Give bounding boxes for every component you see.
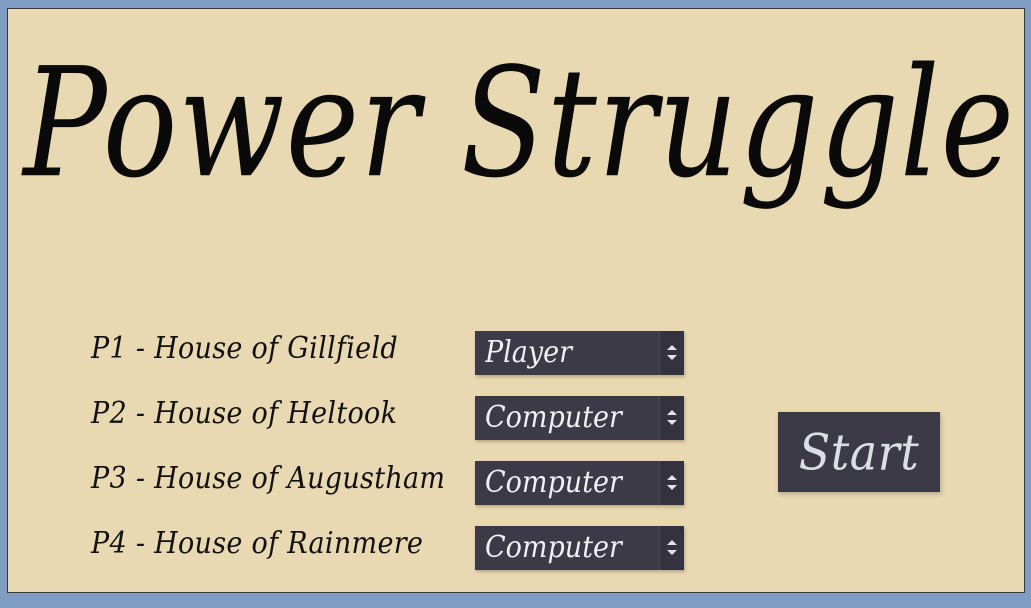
spinner-up-arrow-icon[interactable] xyxy=(667,540,677,545)
spinner-down-arrow-icon[interactable] xyxy=(667,485,677,490)
player-row-1: P1 - House of Gillfield Player xyxy=(8,321,1024,386)
player-type-spinner-3[interactable] xyxy=(659,461,684,505)
start-button-label: Start xyxy=(778,409,940,495)
spinner-up-arrow-icon[interactable] xyxy=(667,475,677,480)
player-type-select-3[interactable]: Computer xyxy=(475,461,684,505)
spinner-down-arrow-icon[interactable] xyxy=(667,550,677,555)
player-label-1: P1 - House of Gillfield xyxy=(91,331,398,366)
window-frame: Power Struggle P1 - House of Gillfield P… xyxy=(0,0,1031,608)
player-row-4: P4 - House of Rainmere Computer xyxy=(8,516,1024,581)
player-label-2: P2 - House of Heltook xyxy=(91,396,397,431)
spinner-up-arrow-icon[interactable] xyxy=(667,410,677,415)
player-type-select-2[interactable]: Computer xyxy=(475,396,684,440)
player-type-spinner-1[interactable] xyxy=(659,331,684,375)
player-type-spinner-4[interactable] xyxy=(659,526,684,570)
start-button[interactable]: Start xyxy=(778,412,940,492)
app-canvas: Power Struggle P1 - House of Gillfield P… xyxy=(7,8,1025,593)
player-type-value-4: Computer xyxy=(485,527,654,569)
player-type-value-3: Computer xyxy=(485,462,654,504)
page-title: Power Struggle xyxy=(23,49,1009,200)
player-type-spinner-2[interactable] xyxy=(659,396,684,440)
spinner-up-arrow-icon[interactable] xyxy=(667,345,677,350)
player-type-value-1: Player xyxy=(485,332,654,374)
spinner-down-arrow-icon[interactable] xyxy=(667,420,677,425)
player-label-4: P4 - House of Rainmere xyxy=(91,526,423,561)
player-label-3: P3 - House of Augustham xyxy=(91,461,445,496)
player-type-value-2: Computer xyxy=(485,397,654,439)
player-type-select-1[interactable]: Player xyxy=(475,331,684,375)
player-type-select-4[interactable]: Computer xyxy=(475,526,684,570)
spinner-down-arrow-icon[interactable] xyxy=(667,355,677,360)
